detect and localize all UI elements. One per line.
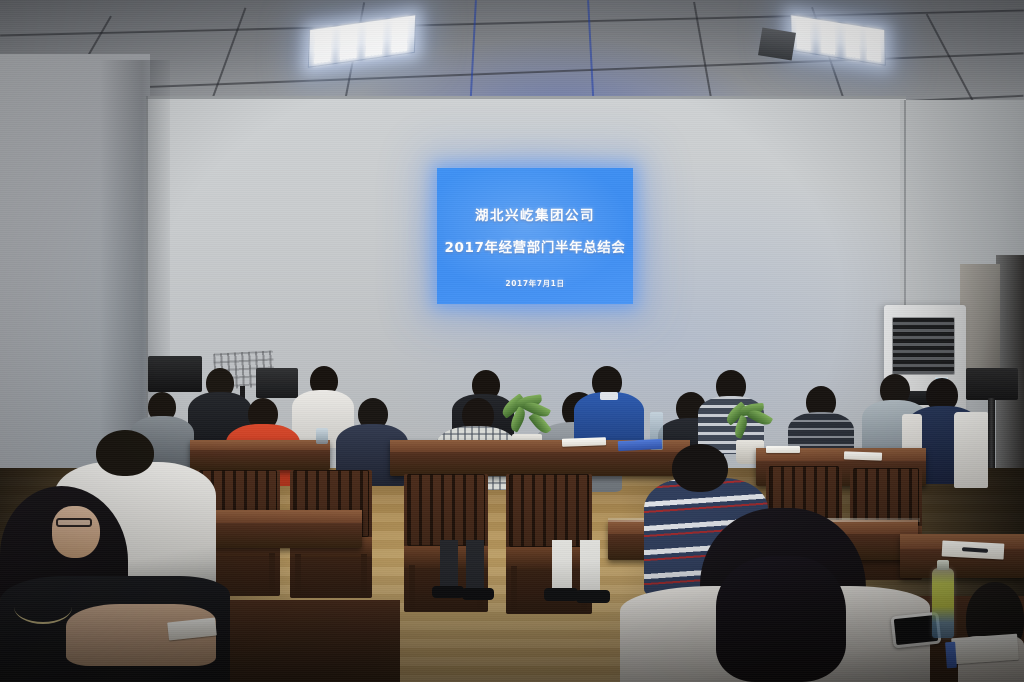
shoe	[544, 588, 578, 601]
slide-subtitle-line: 2017年经营部门半年总结会	[437, 236, 633, 256]
leg-under-table	[466, 540, 484, 594]
photo-conference-room: 湖北兴屹集团公司 2017年经营部门半年总结会 2017年7月1日	[0, 0, 1024, 682]
woman-left-face	[52, 506, 100, 558]
conference-table-left	[190, 440, 330, 470]
leg-under-table	[552, 540, 572, 592]
paper-stack	[766, 446, 800, 453]
cup-left	[316, 428, 328, 444]
plastic-drink-bottle	[932, 568, 954, 638]
slide-date-line: 2017年7月1日	[437, 278, 633, 289]
glasses-icon	[56, 518, 92, 527]
cabinet-right	[960, 264, 1000, 382]
necklace	[14, 590, 72, 624]
woman-right-hair-front	[716, 556, 846, 682]
speaker-left	[148, 356, 202, 392]
monitor-left	[256, 368, 298, 398]
speaker-collar	[600, 392, 618, 400]
ceiling-wall-junction	[146, 96, 906, 99]
notebook	[951, 634, 1019, 665]
person-head	[672, 444, 728, 492]
shoe	[462, 588, 494, 600]
paper-stack	[562, 437, 606, 447]
projection-screen: 湖北兴屹集团公司 2017年经营部门半年总结会 2017年7月1日	[437, 168, 633, 304]
leg-under-table	[580, 540, 600, 592]
white-vest	[954, 412, 988, 488]
notebook-spine	[945, 642, 957, 669]
paper-stack	[844, 451, 882, 460]
speaker-right	[966, 368, 1018, 400]
ceiling-light-recess	[758, 28, 796, 61]
shoe	[576, 590, 610, 603]
person-head	[96, 430, 154, 476]
slide-title-line: 湖北兴屹集团公司	[437, 204, 633, 224]
shoe	[432, 586, 464, 598]
